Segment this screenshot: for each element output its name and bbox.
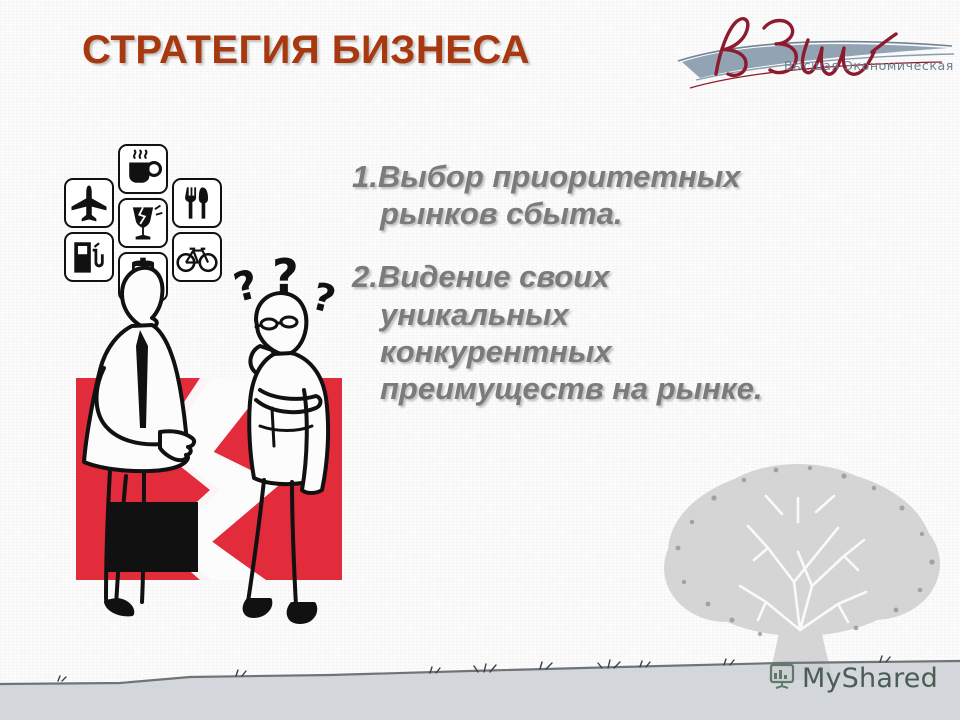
bullet-1-line-1: 1.Выбор приоритетных	[352, 159, 740, 194]
bullet-2-line-4: преимуществ на рынке.	[352, 370, 942, 407]
page-title: СТРАТЕГИЯ БИЗНЕСА	[82, 28, 530, 73]
logo: Высшая Экономическая Школа	[676, 4, 956, 104]
coffee-cup-icon	[118, 144, 168, 194]
bullet-2-line-3: конкурентных	[352, 333, 942, 370]
bullet-1-line-2: рынков сбыта.	[352, 195, 942, 232]
bullet-2-line-2: уникальных	[352, 296, 942, 333]
cutlery-icon	[172, 178, 222, 228]
two-people-illustration: ? ? ?	[60, 250, 380, 670]
airplane-icon	[64, 178, 114, 228]
bullet-item-2: 2.Видение своих уникальных конкурентных …	[352, 258, 942, 407]
svg-text:?: ?	[308, 274, 340, 322]
bullet-list: 1.Выбор приоритетных рынков сбыта. 2.Вид…	[352, 158, 942, 433]
slide-canvas: СТРАТЕГИЯ БИЗНЕСА Высшая Экономическая Ш…	[0, 0, 960, 720]
logo-tagline: Высшая Экономическая Школа	[784, 58, 956, 73]
fragile-glass-icon	[118, 198, 168, 248]
presentation-board-icon	[768, 662, 796, 695]
bullet-item-1: 1.Выбор приоритетных рынков сбыта.	[352, 158, 942, 232]
bullet-2-line-1: 2.Видение своих	[352, 259, 609, 294]
myshared-watermark: MyShared	[768, 662, 938, 695]
watermark-text: MyShared	[802, 663, 938, 694]
